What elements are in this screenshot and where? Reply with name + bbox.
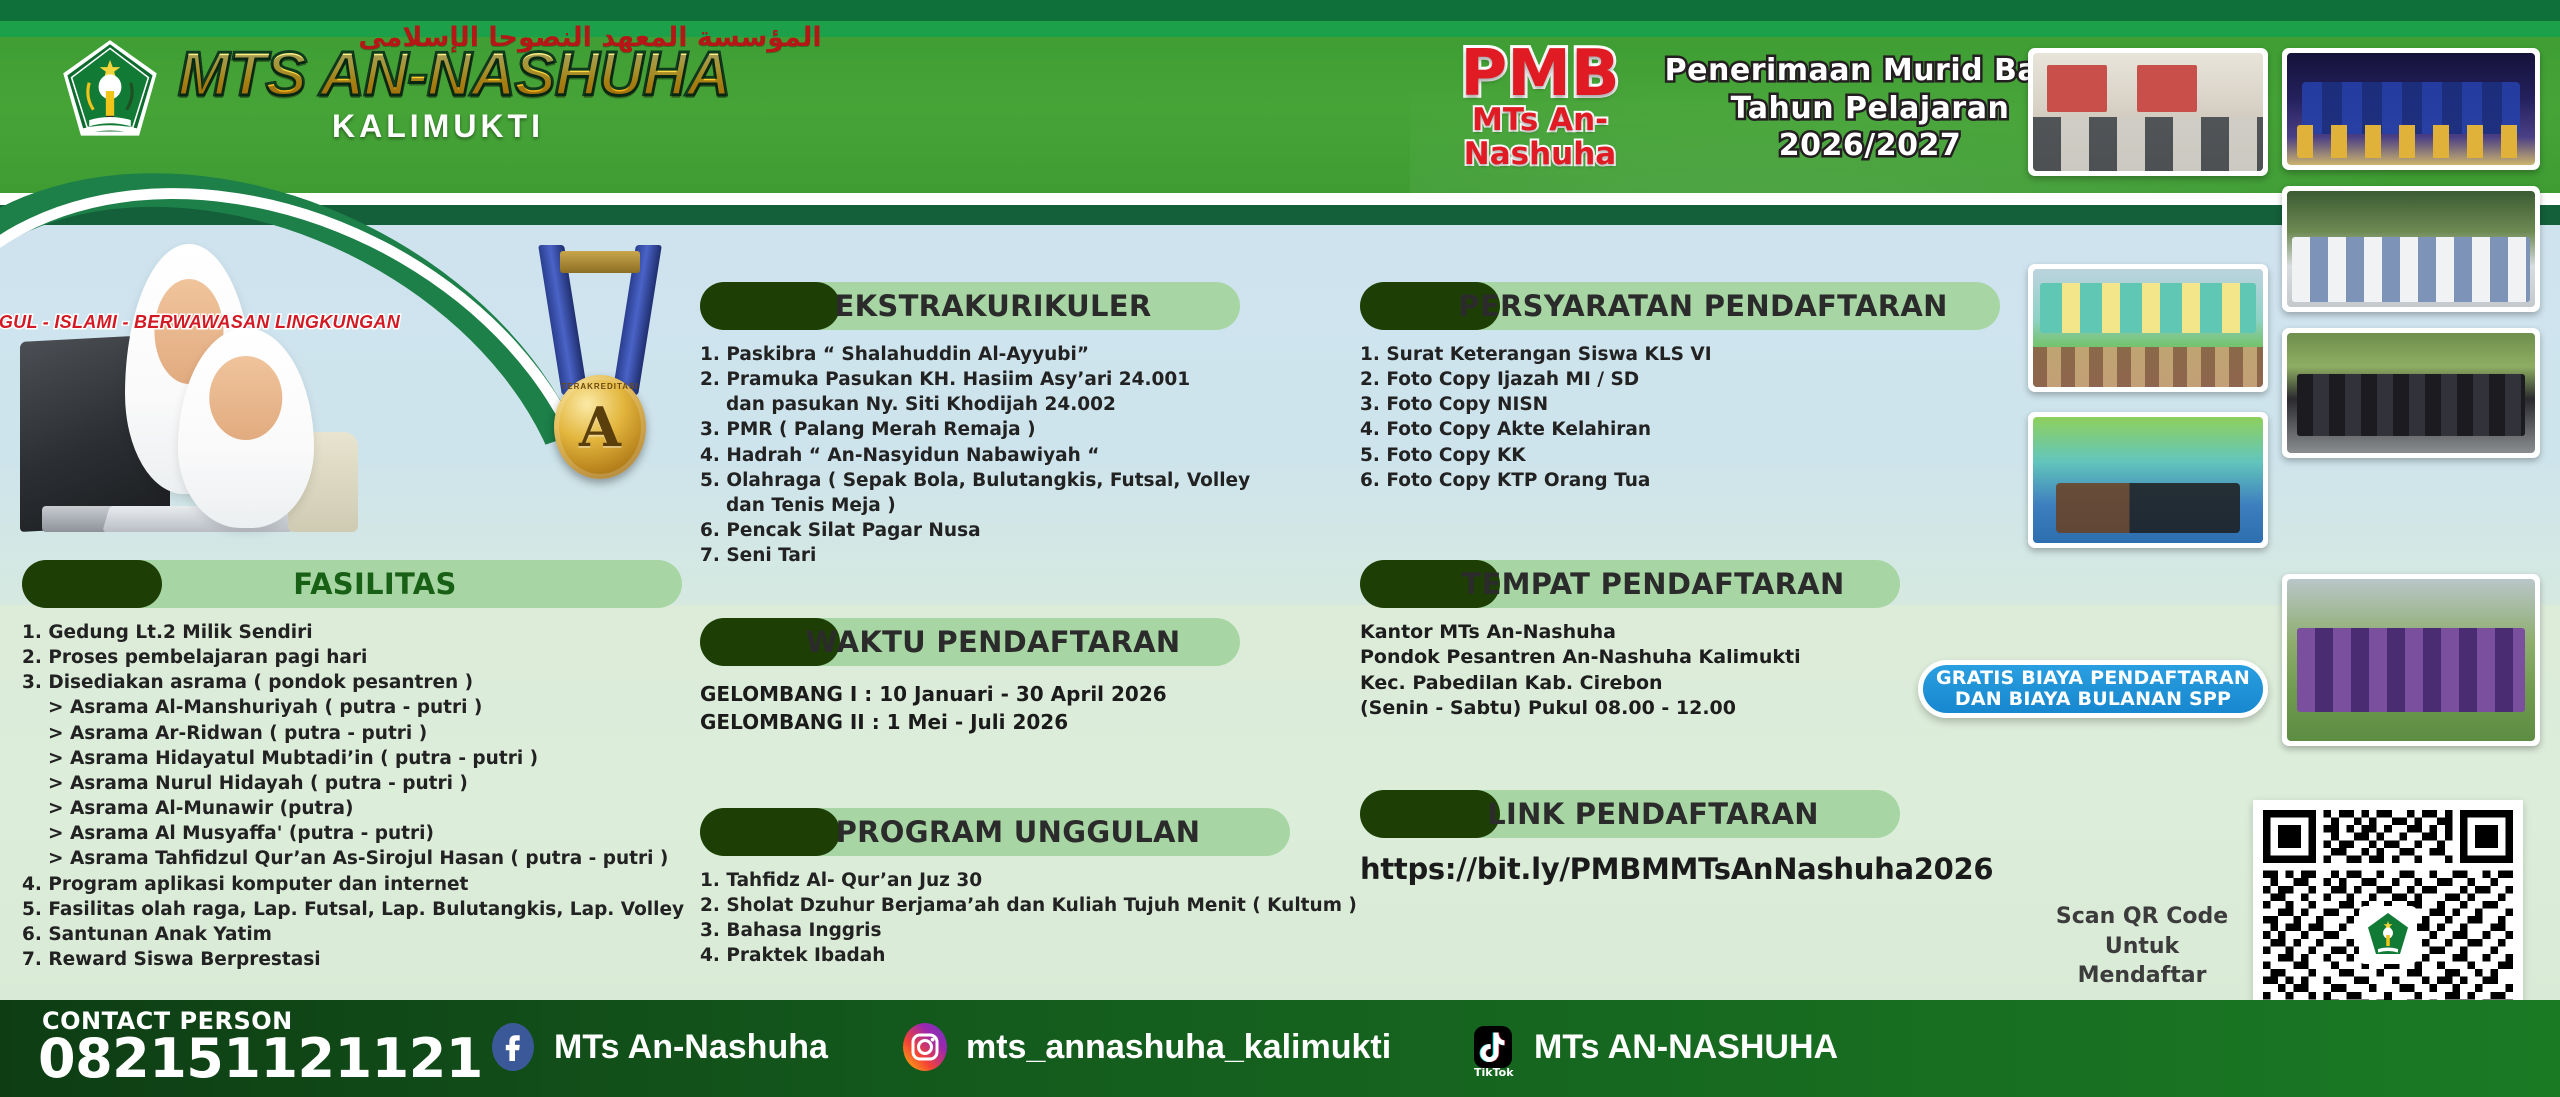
accreditation-medal-icon: TERAKREDITASI A — [540, 245, 660, 485]
fasilitas-list: 1. Gedung Lt.2 Milik Sendiri 2. Proses p… — [22, 620, 682, 972]
list-item: > Asrama Nurul Hidayah ( putra - putri ) — [22, 771, 682, 796]
section-header-fasilitas: FASILITAS — [22, 560, 682, 608]
list-item: 3. Foto Copy NISN — [1360, 392, 2000, 417]
section-ekstrakurikuler: EKSTRAKURIKULER 1. Paskibra “ Shalahuddi… — [700, 282, 1240, 568]
gratis-badge: GRATIS BIAYA PENDAFTARAN DAN BIAYA BULAN… — [1918, 660, 2268, 718]
list-item: 1. Paskibra “ Shalahuddin Al-Ayyubi” — [700, 342, 1240, 367]
instagram-icon — [900, 1022, 950, 1072]
list-item: 7. Seni Tari — [700, 543, 1240, 568]
top-dark-bar — [0, 0, 2560, 21]
list-item: 3. Disediakan asrama ( pondok pesantren … — [22, 670, 682, 695]
section-tempat-pendaftaran: TEMPAT PENDAFTARAN Kantor MTs An-Nashuha… — [1360, 560, 1900, 721]
section-title: PERSYARATAN PENDAFTARAN — [1360, 289, 2000, 323]
photo-scouts — [2282, 186, 2540, 312]
gelombang-2: GELOMBANG II : 1 Mei - Juli 2026 — [700, 708, 1240, 736]
school-name: MTS AN-NASHUHA — [178, 44, 878, 106]
list-item: 6. Santunan Anak Yatim — [22, 922, 682, 947]
contact-person-number[interactable]: 082151121121 — [38, 1027, 483, 1090]
list-item: 1. Surat Keterangan Siswa KLS VI — [1360, 342, 2000, 367]
hero-students-photo — [20, 232, 380, 532]
registration-link[interactable]: https://bit.ly/PMBMMTsAnNashuha2026 — [1360, 852, 1900, 886]
school-sub-name: KALIMUKTI — [178, 108, 698, 145]
poster-root: المؤسسة المعهد النصوحا الإسلامى MTS AN-N… — [0, 0, 2560, 1097]
list-item: 5. Fasilitas olah raga, Lap. Futsal, Lap… — [22, 897, 682, 922]
section-title: WAKTU PENDAFTARAN — [700, 625, 1240, 659]
list-item: dan Tenis Meja ) — [700, 493, 1240, 518]
list-item: > Asrama Tahfidzul Qur’an As-Sirojul Has… — [22, 846, 682, 871]
medal-ribbon — [548, 245, 652, 393]
medal-grade: A — [554, 375, 646, 479]
program-list: 1. Tahfidz Al- Qur’an Juz 30 2. Sholat D… — [700, 868, 1290, 969]
list-item: 4. Praktek Ibadah — [700, 943, 1290, 968]
medal-disc: TERAKREDITASI A — [554, 375, 646, 479]
list-item: > Asrama Al-Manshuriyah ( putra - putri … — [22, 695, 682, 720]
qr-center-logo-icon — [2359, 906, 2417, 964]
section-fasilitas: FASILITAS 1. Gedung Lt.2 Milik Sendiri 2… — [22, 560, 682, 972]
instagram-handle: mts_annashuha_kalimukti — [966, 1028, 1391, 1067]
section-title: FASILITAS — [22, 567, 682, 601]
pmb-tagline: Penerimaan Murid Baru Tahun Pelajaran 20… — [1660, 52, 2080, 165]
list-item: 7. Reward Siswa Berprestasi — [22, 947, 682, 972]
social-instagram[interactable]: mts_annashuha_kalimukti — [900, 1022, 1391, 1072]
section-header-tempat: TEMPAT PENDAFTARAN — [1360, 560, 1900, 608]
photo-silat-performance — [2028, 412, 2268, 548]
waktu-content: GELOMBANG I : 10 Januari - 30 April 2026… — [700, 680, 1240, 737]
list-item: 1. Tahfidz Al- Qur’an Juz 30 — [700, 868, 1290, 893]
photo-soccer-team — [2282, 574, 2540, 746]
social-tiktok[interactable]: MTs AN-NASHUHA — [1468, 1022, 1838, 1072]
header-dark-divider — [0, 205, 2560, 225]
tiktok-icon — [1468, 1022, 1518, 1072]
section-persyaratan-pendaftaran: PERSYARATAN PENDAFTARAN 1. Surat Keteran… — [1360, 282, 2000, 493]
section-header-waktu: WAKTU PENDAFTARAN — [700, 618, 1240, 666]
qr-caption-line-1: Scan QR Code — [2042, 902, 2242, 932]
list-item: 3. PMR ( Palang Merah Remaja ) — [700, 417, 1240, 442]
address-line-4: (Senin - Sabtu) Pukul 08.00 - 12.00 — [1360, 696, 1900, 721]
list-item: > Asrama Ar-Ridwan ( putra - putri ) — [22, 721, 682, 746]
photo-classroom — [2028, 48, 2268, 176]
list-item: dan pasukan Ny. Siti Khodijah 24.002 — [700, 392, 1240, 417]
section-header-link: LINK PENDAFTARAN — [1360, 790, 1900, 838]
section-header-ekstrakurikuler: EKSTRAKURIKULER — [700, 282, 1240, 330]
section-waktu-pendaftaran: WAKTU PENDAFTARAN GELOMBANG I : 10 Janua… — [700, 618, 1240, 737]
section-header-program: PROGRAM UNGGULAN — [700, 808, 1290, 856]
list-item: 6. Pencak Silat Pagar Nusa — [700, 518, 1240, 543]
qr-caption-line-2: Untuk Mendaftar — [2042, 932, 2242, 991]
list-item: 4. Hadrah “ An-Nasyidun Nabawiyah “ — [700, 443, 1240, 468]
photo-school-building — [2028, 264, 2268, 392]
list-item: 4. Foto Copy Akte Kelahiran — [1360, 417, 2000, 442]
section-title: LINK PENDAFTARAN — [1360, 797, 1900, 831]
address-line-2: Pondok Pesantren An-Nashuha Kalimukti — [1360, 645, 1900, 670]
header-white-divider — [0, 193, 2560, 205]
photo-marching-band — [2282, 48, 2540, 170]
section-title: PROGRAM UNGGULAN — [700, 815, 1290, 849]
list-item: 2. Pramuka Pasukan KH. Hasiim Asy’ari 24… — [700, 367, 1240, 392]
facebook-handle: MTs An-Nashuha — [554, 1028, 828, 1067]
tempat-address: Kantor MTs An-Nashuha Pondok Pesantren A… — [1360, 620, 1900, 721]
gelombang-1: GELOMBANG I : 10 Januari - 30 April 2026 — [700, 680, 1240, 708]
pmb-block: PMB MTs An-Nashuha — [1400, 44, 1680, 171]
list-item: 1. Gedung Lt.2 Milik Sendiri — [22, 620, 682, 645]
list-item: 2. Foto Copy Ijazah MI / SD — [1360, 367, 2000, 392]
ekstrakurikuler-list: 1. Paskibra “ Shalahuddin Al-Ayyubi” 2. … — [700, 342, 1240, 568]
pmb-acronym: PMB — [1400, 44, 1680, 105]
photo-pencak-silat-team — [2282, 328, 2540, 458]
tiktok-badge-label: TikTok — [1474, 1066, 1514, 1079]
list-item: 6. Foto Copy KTP Orang Tua — [1360, 468, 2000, 493]
facebook-icon — [488, 1022, 538, 1072]
section-title: TEMPAT PENDAFTARAN — [1360, 567, 1900, 601]
section-program-unggulan: PROGRAM UNGGULAN 1. Tahfidz Al- Qur’an J… — [700, 808, 1290, 969]
list-item: > Asrama Hidayatul Mubtadi’in ( putra - … — [22, 746, 682, 771]
list-item: 2. Sholat Dzuhur Berjama’ah dan Kuliah T… — [700, 893, 1290, 918]
list-item: > Asrama Al-Munawir (putra) — [22, 796, 682, 821]
pmb-tagline-line1: Penerimaan Murid Baru — [1660, 52, 2080, 90]
school-logo-icon — [58, 37, 162, 145]
school-wordmark: MTS AN-NASHUHA KALIMUKTI — [178, 44, 878, 145]
list-item: 4. Program aplikasi komputer dan interne… — [22, 872, 682, 897]
list-item: 2. Proses pembelajaran pagi hari — [22, 645, 682, 670]
pmb-tagline-line2: Tahun Pelajaran 2026/2027 — [1660, 90, 2080, 165]
list-item: 3. Bahasa Inggris — [700, 918, 1290, 943]
list-item: 5. Olahraga ( Sepak Bola, Bulutangkis, F… — [700, 468, 1240, 493]
address-line-3: Kec. Pabedilan Kab. Cirebon — [1360, 671, 1900, 696]
list-item: > Asrama Al Musyaffa' (putra - putri) — [22, 821, 682, 846]
list-item: 5. Foto Copy KK — [1360, 443, 2000, 468]
persyaratan-list: 1. Surat Keterangan Siswa KLS VI 2. Foto… — [1360, 342, 2000, 493]
pmb-school: MTs An-Nashuha — [1400, 103, 1680, 171]
qr-caption: Scan QR Code Untuk Mendaftar — [2042, 902, 2242, 991]
section-link-pendaftaran: LINK PENDAFTARAN https://bit.ly/PMBMMTsA… — [1360, 790, 1900, 886]
gratis-line-1: GRATIS BIAYA PENDAFTARAN — [1936, 668, 2250, 689]
school-motto: UNGGUL - ISLAMI - BERWAWASAN LINGKUNGAN — [22, 310, 336, 334]
social-facebook[interactable]: MTs An-Nashuha — [488, 1022, 828, 1072]
section-header-persyaratan: PERSYARATAN PENDAFTARAN — [1360, 282, 2000, 330]
gratis-line-2: DAN BIAYA BULANAN SPP — [1955, 689, 2231, 710]
section-title: EKSTRAKURIKULER — [700, 289, 1240, 323]
tiktok-handle: MTs AN-NASHUHA — [1534, 1028, 1838, 1067]
address-line-1: Kantor MTs An-Nashuha — [1360, 620, 1900, 645]
